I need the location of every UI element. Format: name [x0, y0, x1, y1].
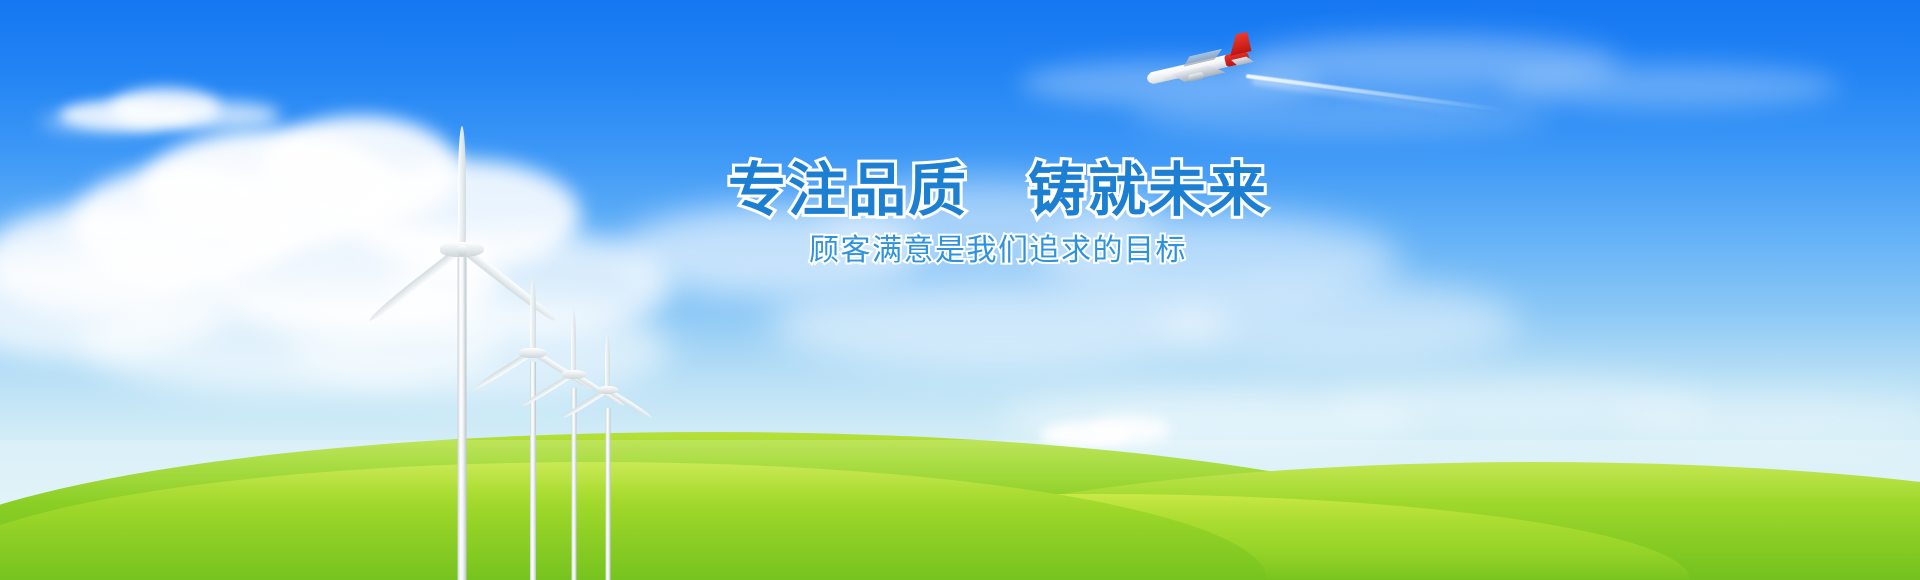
banner-text-block: 专注品质 铸就未来 顾客满意是我们追求的目标	[688, 160, 1308, 269]
turbine-blade	[571, 310, 576, 374]
turbine-tower	[571, 388, 576, 580]
wind-turbine-small-3	[606, 336, 609, 580]
turbine-hub	[457, 245, 468, 256]
turbine-tower	[458, 250, 467, 580]
banner-headline: 专注品质 铸就未来	[688, 160, 1308, 221]
turbine-blade	[530, 278, 536, 352]
airplane	[1140, 44, 1400, 104]
wind-turbine-main	[460, 130, 464, 580]
banner-subtitle: 顾客满意是我们追求的目标	[688, 233, 1308, 269]
wind-turbine-small-1	[531, 282, 534, 580]
turbine-tower	[605, 408, 610, 580]
turbine-nacelle	[597, 386, 618, 394]
turbine-nacelle	[519, 348, 547, 358]
turbine-nacelle	[562, 370, 586, 379]
wind-turbine-small-2	[572, 312, 575, 580]
turbine-blade	[458, 126, 466, 248]
cloud-group-top-right	[980, 10, 1880, 140]
turbine-blade	[605, 334, 610, 390]
hero-banner: 专注品质 铸就未来 顾客满意是我们追求的目标	[0, 0, 1920, 580]
